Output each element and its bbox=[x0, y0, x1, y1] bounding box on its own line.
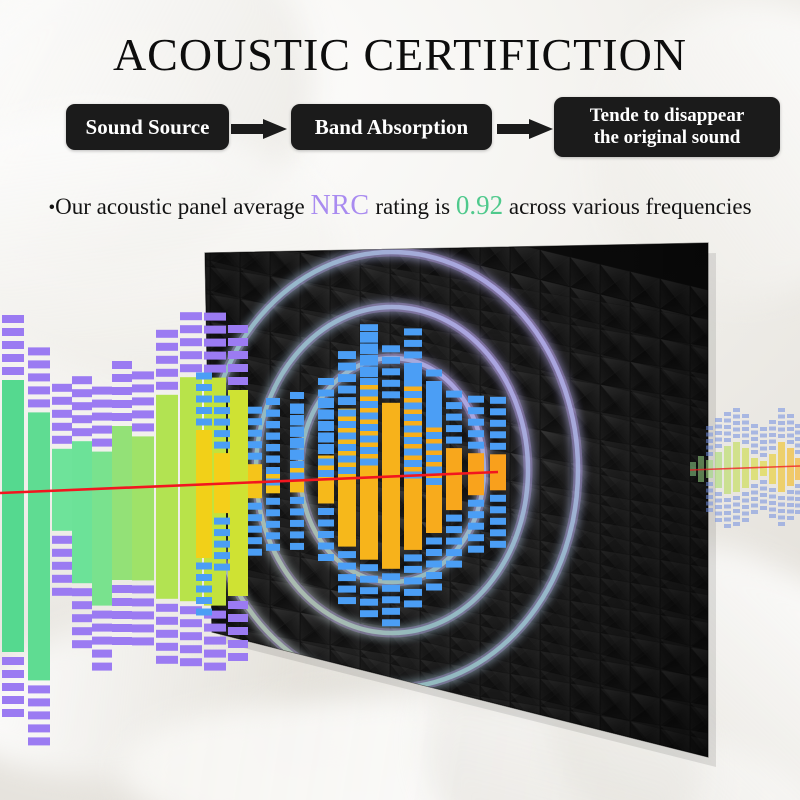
nrc-statement: •Our acoustic panel average NRC rating i… bbox=[0, 190, 800, 222]
flow-step-sound-source[interactable]: Sound Source bbox=[66, 104, 229, 150]
nrc-text-after: across various frequencies bbox=[503, 194, 751, 219]
flow-step-disappear[interactable]: Tende to disappearthe original sound bbox=[554, 97, 780, 157]
flow-step-label: Sound Source bbox=[86, 115, 210, 140]
infographic-canvas: ACOUSTIC CERTIFICTION Sound Source Band … bbox=[0, 0, 800, 800]
nrc-label: NRC bbox=[311, 190, 370, 221]
arrow-right-icon bbox=[231, 119, 287, 139]
arrow-right-icon bbox=[497, 119, 553, 139]
process-flow: Sound Source Band Absorption Tende to di… bbox=[0, 97, 800, 159]
flow-step-label: Tende to disappearthe original sound bbox=[590, 105, 745, 150]
nrc-text-before: Our acoustic panel average bbox=[55, 194, 310, 219]
nrc-text-middle: rating is bbox=[370, 194, 456, 219]
flow-step-label: Band Absorption bbox=[315, 115, 468, 140]
page-title: ACOUSTIC CERTIFICTION bbox=[0, 28, 800, 81]
flow-step-band-absorption[interactable]: Band Absorption bbox=[291, 104, 492, 150]
nrc-value: 0.92 bbox=[456, 190, 503, 220]
